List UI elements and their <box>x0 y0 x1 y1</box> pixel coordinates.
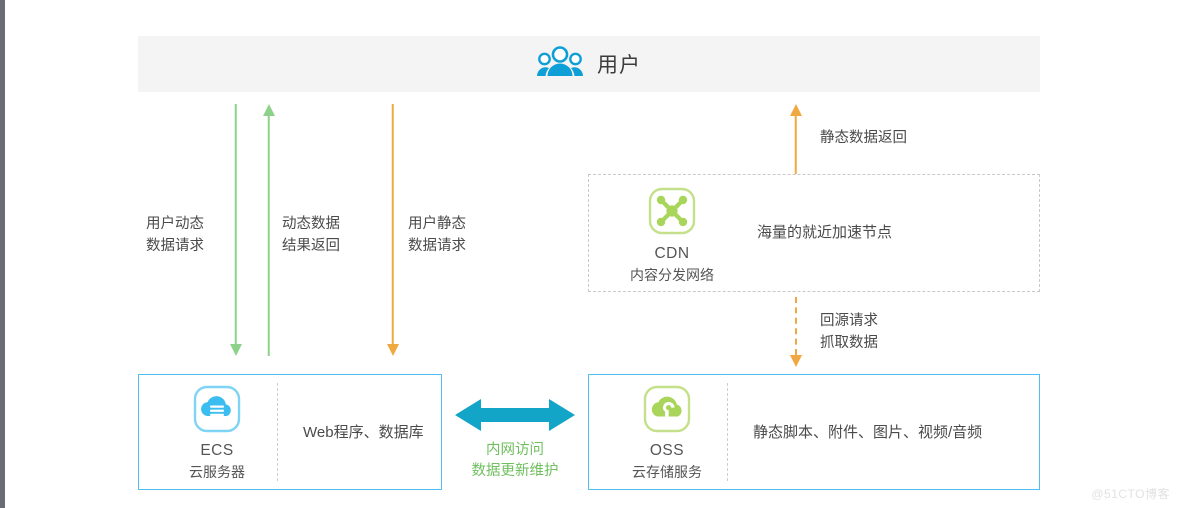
caption-user-dynamic-request: 用户动态 数据请求 <box>146 213 204 257</box>
ecs-name: ECS <box>161 442 273 460</box>
cdn-subtitle: 内容分发网络 <box>617 265 727 285</box>
user-header-bar: 用户 <box>138 36 1040 92</box>
watermark: @51CTO博客 <box>1091 485 1170 502</box>
oss-subtitle: 云存储服务 <box>611 462 723 482</box>
arrow-user-dynamic-request <box>229 104 242 356</box>
cloud-server-icon <box>193 420 241 437</box>
oss-box: OSS 云存储服务 静态脚本、附件、图片、视频/音频 <box>588 374 1040 490</box>
ecs-divider <box>277 383 278 481</box>
users-label: 用户 <box>597 49 641 79</box>
arrow-user-static-request <box>386 104 399 356</box>
cdn-identity: CDN 内容分发网络 <box>617 187 727 285</box>
caption-origin-fetch: 回源请求 抓取数据 <box>820 310 878 354</box>
oss-identity: OSS 云存储服务 <box>611 385 723 482</box>
cdn-description: 海量的就近加速节点 <box>757 221 892 242</box>
oss-name: OSS <box>611 442 723 460</box>
oss-divider <box>727 383 728 481</box>
arrow-origin-fetch <box>789 297 802 367</box>
left-edge-strip <box>0 0 5 508</box>
ecs-identity: ECS 云服务器 <box>161 385 273 482</box>
caption-intranet-access: 内网访问 数据更新维护 <box>455 440 575 482</box>
caption-dynamic-result-return: 动态数据 结果返回 <box>282 213 340 257</box>
oss-description: 静态脚本、附件、图片、视频/音频 <box>753 421 982 442</box>
cloud-storage-icon <box>643 420 691 437</box>
caption-static-data-return: 静态数据返回 <box>820 127 907 149</box>
arrow-static-data-return <box>789 104 802 174</box>
arrow-dynamic-result-return <box>262 104 275 356</box>
cdn-node-icon <box>648 222 696 239</box>
users-icon <box>537 46 583 83</box>
caption-user-static-request: 用户静态 数据请求 <box>408 213 466 257</box>
cdn-box: CDN 内容分发网络 海量的就近加速节点 <box>588 174 1040 292</box>
intranet-bidirectional-arrow <box>455 396 575 439</box>
ecs-description: Web程序、数据库 <box>303 421 424 442</box>
cdn-name: CDN <box>617 245 727 263</box>
ecs-subtitle: 云服务器 <box>161 462 273 482</box>
architecture-diagram: 用户 用户动态 数据请求 动态数据 结果返回 用户静态 数据请求 静态数据返回 … <box>0 0 1184 508</box>
ecs-box: ECS 云服务器 Web程序、数据库 <box>138 374 442 490</box>
